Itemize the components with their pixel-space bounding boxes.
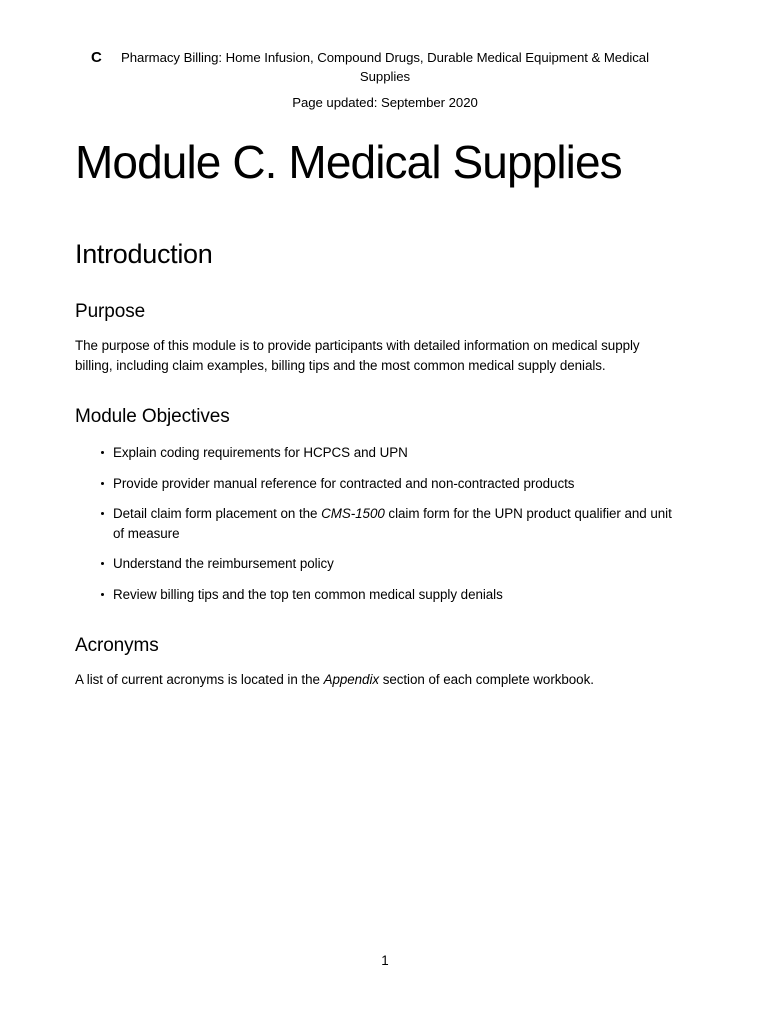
section-heading-introduction: Introduction <box>75 238 675 270</box>
list-item-text-pre: Explain coding requirements for HCPCS an… <box>113 445 408 460</box>
list-item-text-pre: Review billing tips and the top ten comm… <box>113 587 503 602</box>
list-item-text-pre: Provide provider manual reference for co… <box>113 476 574 491</box>
acronyms-text-post: section of each complete workbook. <box>379 672 594 687</box>
acronyms-text-italic: Appendix <box>324 672 379 687</box>
list-item: Provide provider manual reference for co… <box>75 474 675 494</box>
bullet-icon <box>101 451 104 454</box>
list-item: Review billing tips and the top ten comm… <box>75 585 675 605</box>
sub-heading-acronyms: Acronyms <box>75 634 675 658</box>
header-title-row: C Pharmacy Billing: Home Infusion, Compo… <box>0 48 770 86</box>
sub-heading-purpose: Purpose <box>75 300 675 324</box>
bullet-icon <box>101 562 104 565</box>
bullet-icon <box>101 593 104 596</box>
acronyms-text-pre: A list of current acronyms is located in… <box>75 672 324 687</box>
chapter-marker: C <box>91 48 102 67</box>
list-item: Explain coding requirements for HCPCS an… <box>75 443 675 463</box>
acronyms-paragraph: A list of current acronyms is located in… <box>75 670 673 690</box>
list-item-text-pre: Detail claim form placement on the <box>113 506 321 521</box>
bullet-icon <box>101 482 104 485</box>
page-title: Module C. Medical Supplies <box>75 136 675 188</box>
list-item-text-italic: CMS-1500 <box>321 506 385 521</box>
list-item: Detail claim form placement on the CMS-1… <box>75 504 675 543</box>
sub-heading-module-objectives: Module Objectives <box>75 405 675 429</box>
header-title: Pharmacy Billing: Home Infusion, Compoun… <box>95 48 675 86</box>
module-objectives-list: Explain coding requirements for HCPCS an… <box>75 443 675 604</box>
list-item-text-pre: Understand the reimbursement policy <box>113 556 334 571</box>
document-page: C Pharmacy Billing: Home Infusion, Compo… <box>0 0 770 1024</box>
running-header: C Pharmacy Billing: Home Infusion, Compo… <box>0 48 770 112</box>
list-item: Understand the reimbursement policy <box>75 554 675 574</box>
purpose-paragraph: The purpose of this module is to provide… <box>75 336 673 375</box>
content-column: Module C. Medical Supplies Introduction … <box>75 136 675 690</box>
bullet-icon <box>101 512 104 515</box>
header-updated-date: Page updated: September 2020 <box>95 93 675 112</box>
page-number: 1 <box>0 952 770 970</box>
